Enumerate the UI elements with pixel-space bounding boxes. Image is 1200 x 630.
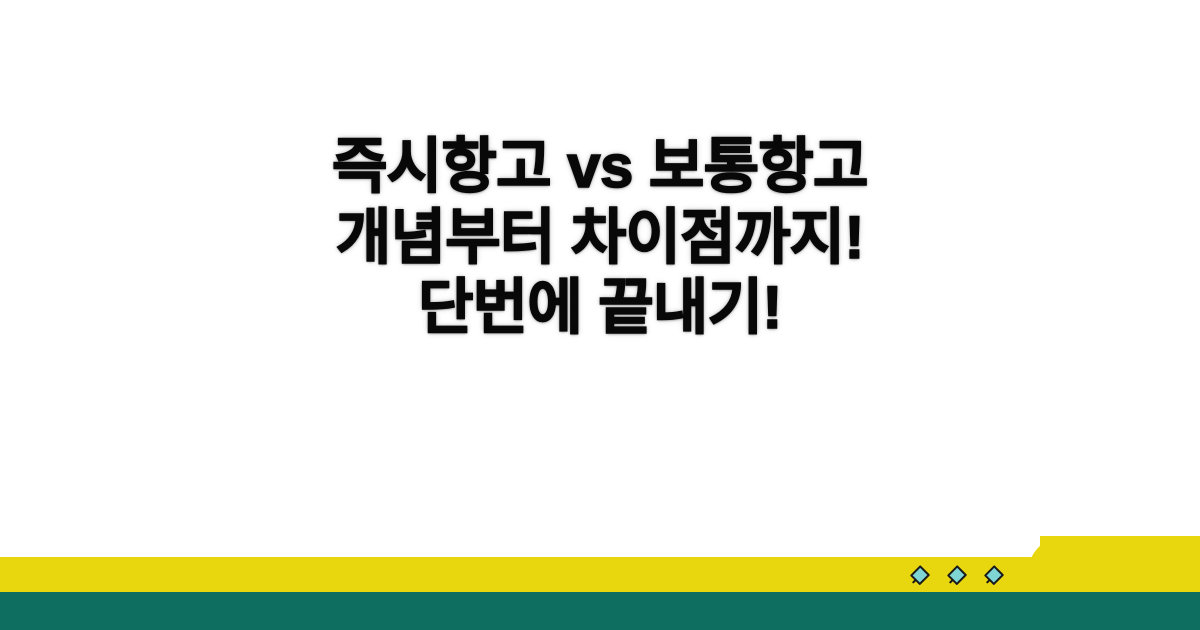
page-title: 즉시항고 vs 보통항고 개념부터 차이점까지! 단번에 끝내기! [0, 0, 1200, 540]
pushpin-row [906, 558, 1006, 591]
pushpin-icon [906, 562, 932, 588]
title-line-3: 단번에 끝내기! [40, 273, 1160, 344]
title-line-1: 즉시항고 vs 보통항고 [40, 132, 1160, 203]
yellow-band [0, 557, 1200, 592]
teal-band [0, 592, 1200, 630]
pushpin-icon [980, 562, 1006, 588]
title-line-2: 개념부터 차이점까지! [40, 203, 1160, 274]
bottom-decoration-bars [0, 520, 1200, 630]
thumbnail-canvas: 즉시항고 vs 보통항고 개념부터 차이점까지! 단번에 끝내기! [0, 0, 1200, 630]
pushpin-icon [943, 562, 969, 588]
